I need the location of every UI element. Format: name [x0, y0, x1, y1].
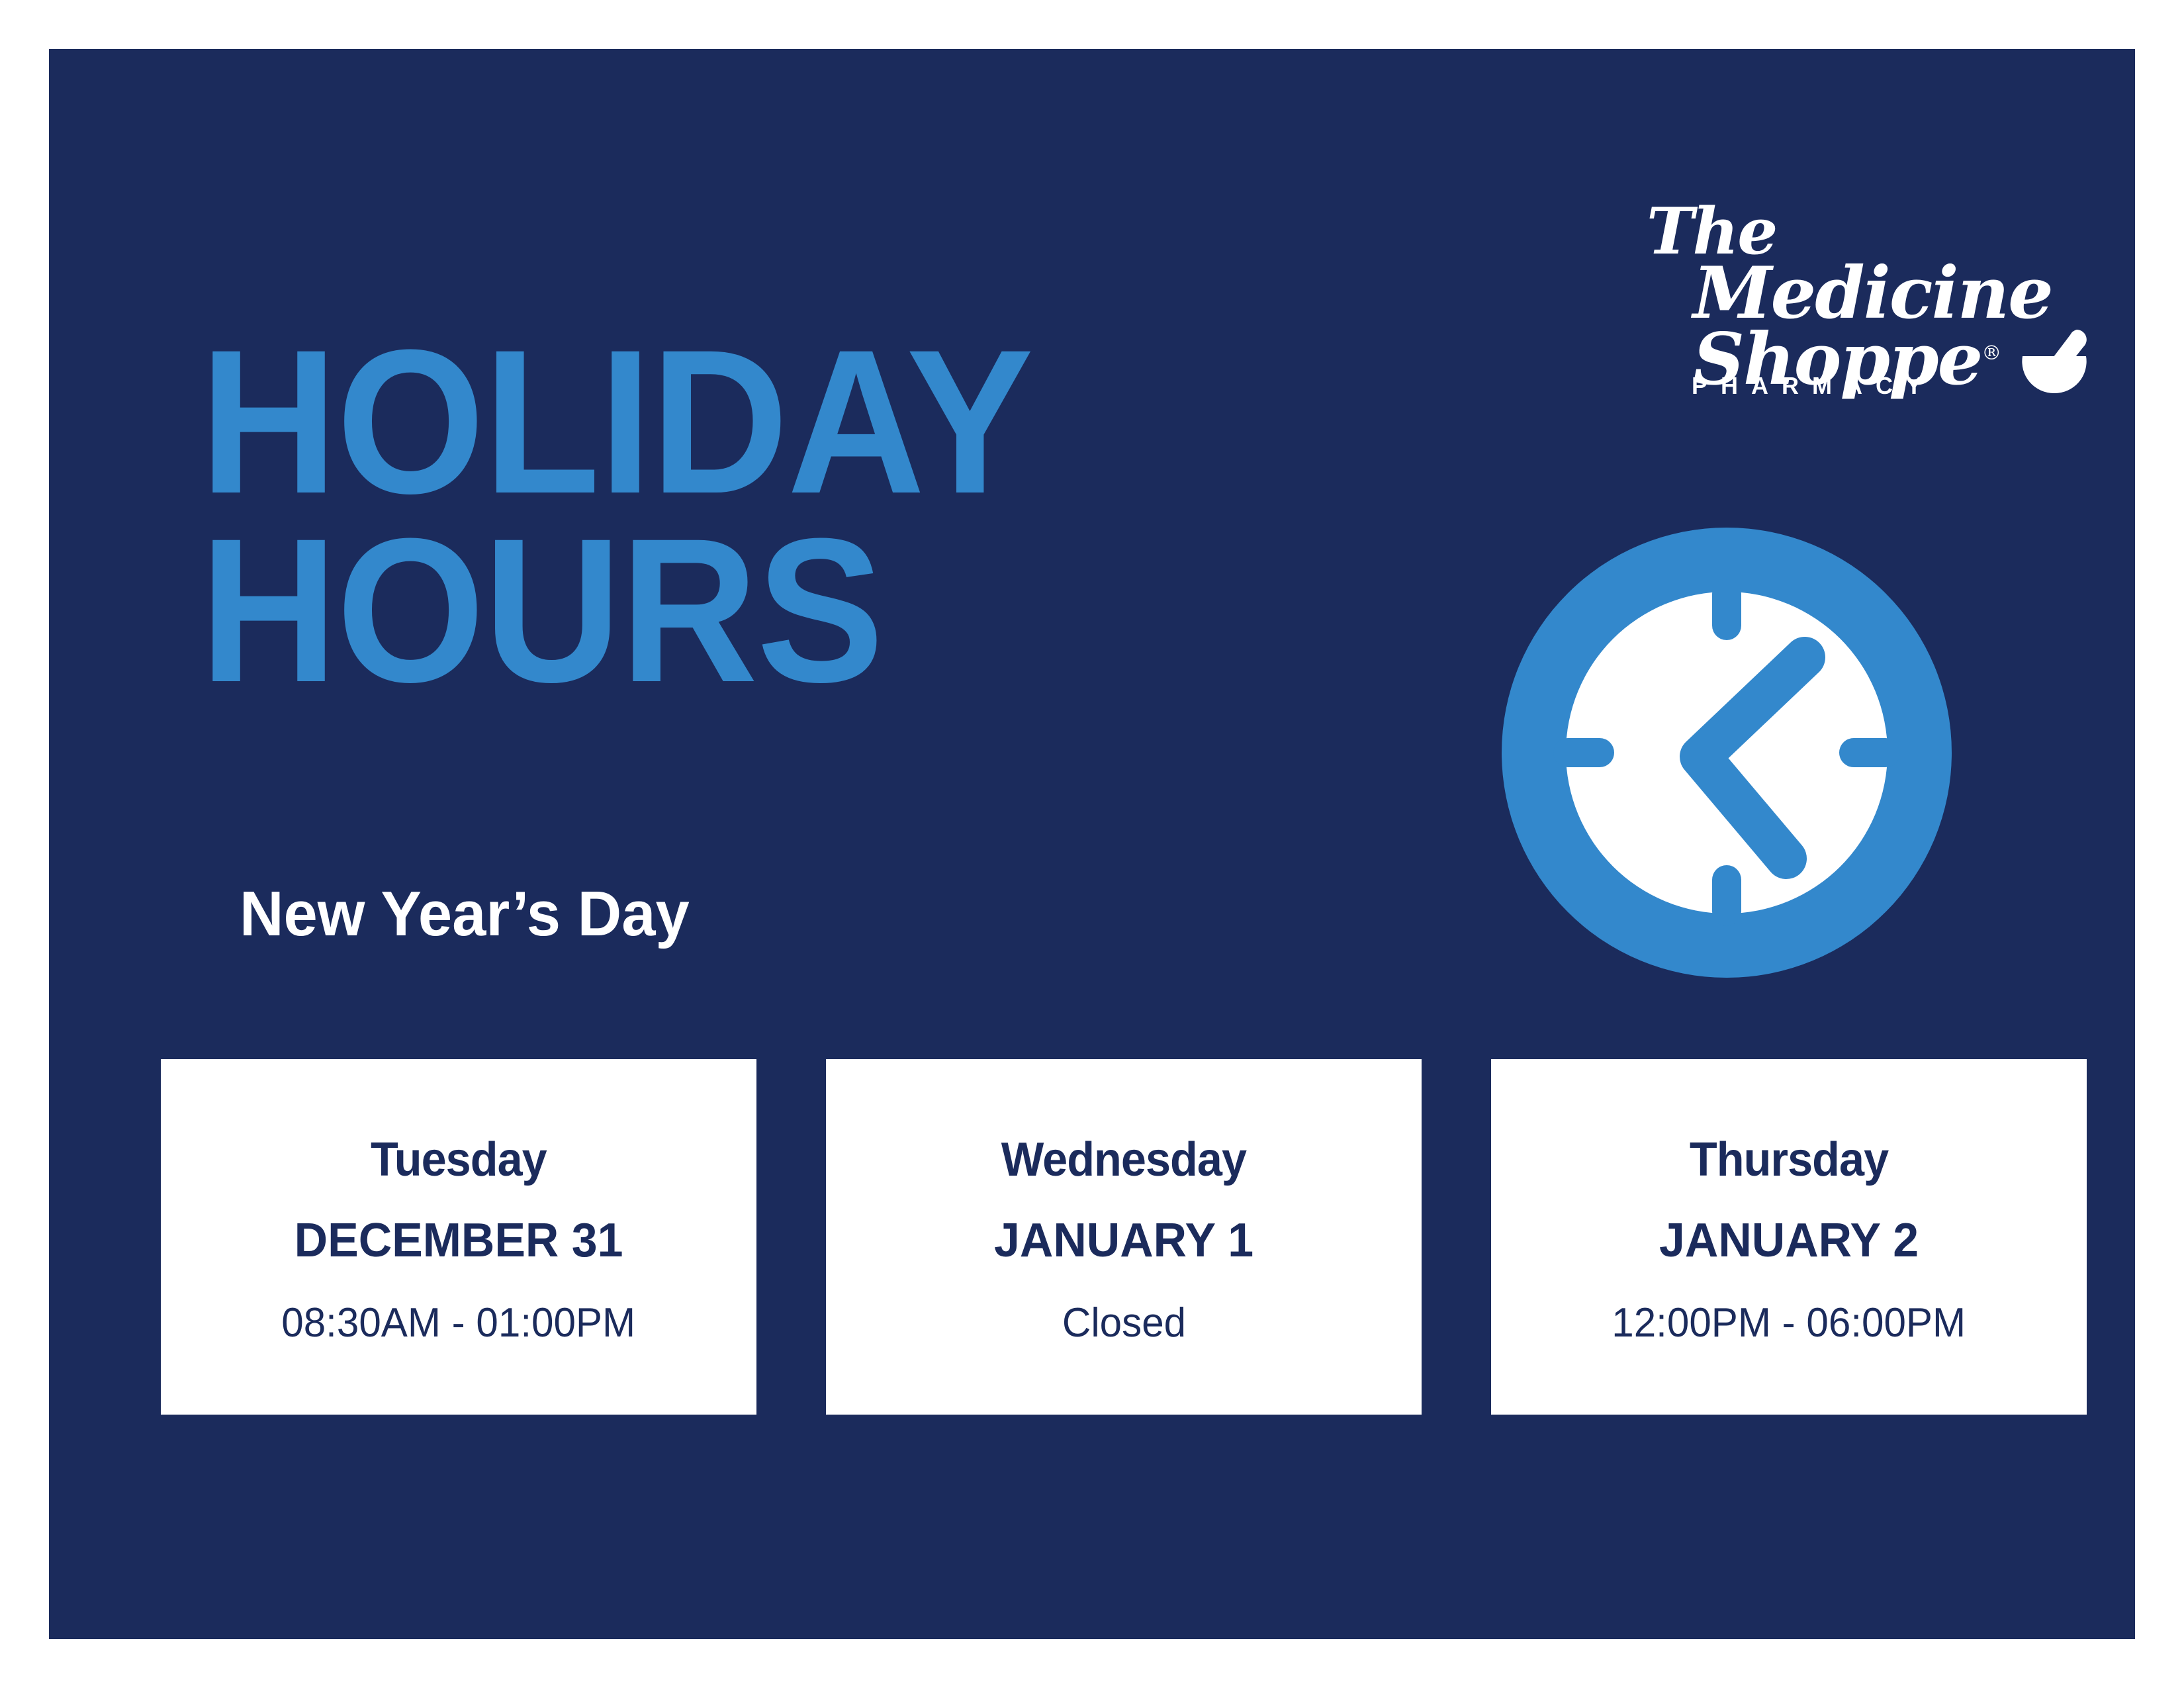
card-weekday: Tuesday: [371, 1133, 547, 1187]
brand-script-lockup: The Medicine Shoppe®: [1635, 203, 2038, 393]
registered-mark-icon: ®: [1981, 342, 2000, 365]
hours-card: Thursday JANUARY 2 12:00PM - 06:00PM: [1491, 1059, 2087, 1415]
card-hours: Closed: [1062, 1299, 1185, 1346]
headline-line-2: HOURS: [200, 516, 1032, 704]
hours-card: Wednesday JANUARY 1 Closed: [826, 1059, 1422, 1415]
card-weekday: Wednesday: [1001, 1133, 1246, 1187]
card-date: DECEMBER 31: [295, 1213, 623, 1268]
clock-icon: [1502, 528, 1952, 978]
page-title: HOLIDAY HOURS: [200, 327, 1032, 704]
card-weekday: Thursday: [1690, 1133, 1888, 1187]
mortar-and-pestle-icon: [2019, 327, 2090, 396]
hours-card-list: Tuesday DECEMBER 31 08:30AM - 01:00PM We…: [161, 1059, 2087, 1415]
brand-logo: The Medicine Shoppe® PHARMACY: [1635, 203, 2085, 401]
card-hours: 08:30AM - 01:00PM: [282, 1299, 636, 1346]
headline-line-1: HOLIDAY: [200, 327, 1032, 516]
card-hours: 12:00PM - 06:00PM: [1612, 1299, 1966, 1346]
hours-card: Tuesday DECEMBER 31 08:30AM - 01:00PM: [161, 1059, 756, 1415]
poster-panel: The Medicine Shoppe® PHARMACY HOLIDAY HO…: [49, 49, 2135, 1639]
card-date: JANUARY 2: [1659, 1213, 1919, 1268]
holiday-name: New Year’s Day: [240, 878, 690, 951]
card-date: JANUARY 1: [994, 1213, 1253, 1268]
brand-tagline: PHARMACY: [1692, 372, 1935, 400]
